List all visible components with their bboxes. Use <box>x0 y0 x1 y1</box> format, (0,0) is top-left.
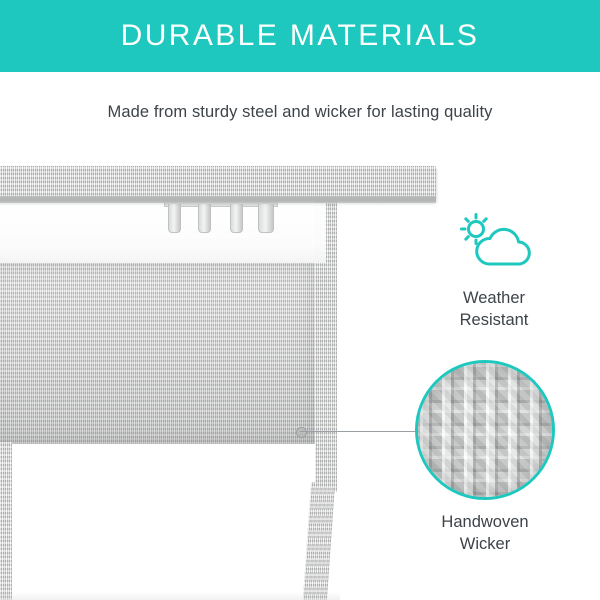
callout-anchor-dot <box>296 427 307 438</box>
header-banner: DURABLE MATERIALS <box>0 0 600 72</box>
callout-leader-line <box>300 431 418 432</box>
feature-wicker-label-line2: Wicker <box>395 534 575 556</box>
bar-leg-left <box>0 442 12 600</box>
feature-weather-label-line1: Weather <box>404 288 584 310</box>
bar-tabletop-edge <box>0 196 436 203</box>
floor-shadow <box>0 592 340 600</box>
feature-handwoven-wicker: Handwoven Wicker <box>395 512 575 556</box>
glass-hook-1 <box>168 204 181 233</box>
feature-wicker-label: Handwoven Wicker <box>395 512 575 556</box>
feature-weather-label-line2: Resistant <box>404 310 584 332</box>
wicker-weave-texture <box>415 360 555 500</box>
wicker-weave-overlay <box>415 360 555 500</box>
feature-weather-label: Weather Resistant <box>404 288 584 332</box>
page-title: DURABLE MATERIALS <box>121 21 480 51</box>
glass-hook-2 <box>198 204 211 233</box>
bar-front-wicker-panel <box>0 262 316 444</box>
sun-cloud-icon <box>452 212 536 270</box>
bar-leg-right <box>303 482 335 600</box>
product-photo: Weather Resistant Handwoven Wicker <box>0 152 600 600</box>
product-feature-graphic: DURABLE MATERIALS Made from sturdy steel… <box>0 0 600 600</box>
glass-hook-4 <box>258 204 274 233</box>
wicker-zoom-circle <box>415 360 555 500</box>
subtitle-text: Made from sturdy steel and wicker for la… <box>108 103 493 122</box>
glass-hook-3 <box>230 204 243 233</box>
subtitle: Made from sturdy steel and wicker for la… <box>0 72 600 152</box>
feature-wicker-label-line1: Handwoven <box>395 512 575 534</box>
under-table-gap <box>0 203 326 263</box>
feature-weather-resistant: Weather Resistant <box>404 212 584 332</box>
